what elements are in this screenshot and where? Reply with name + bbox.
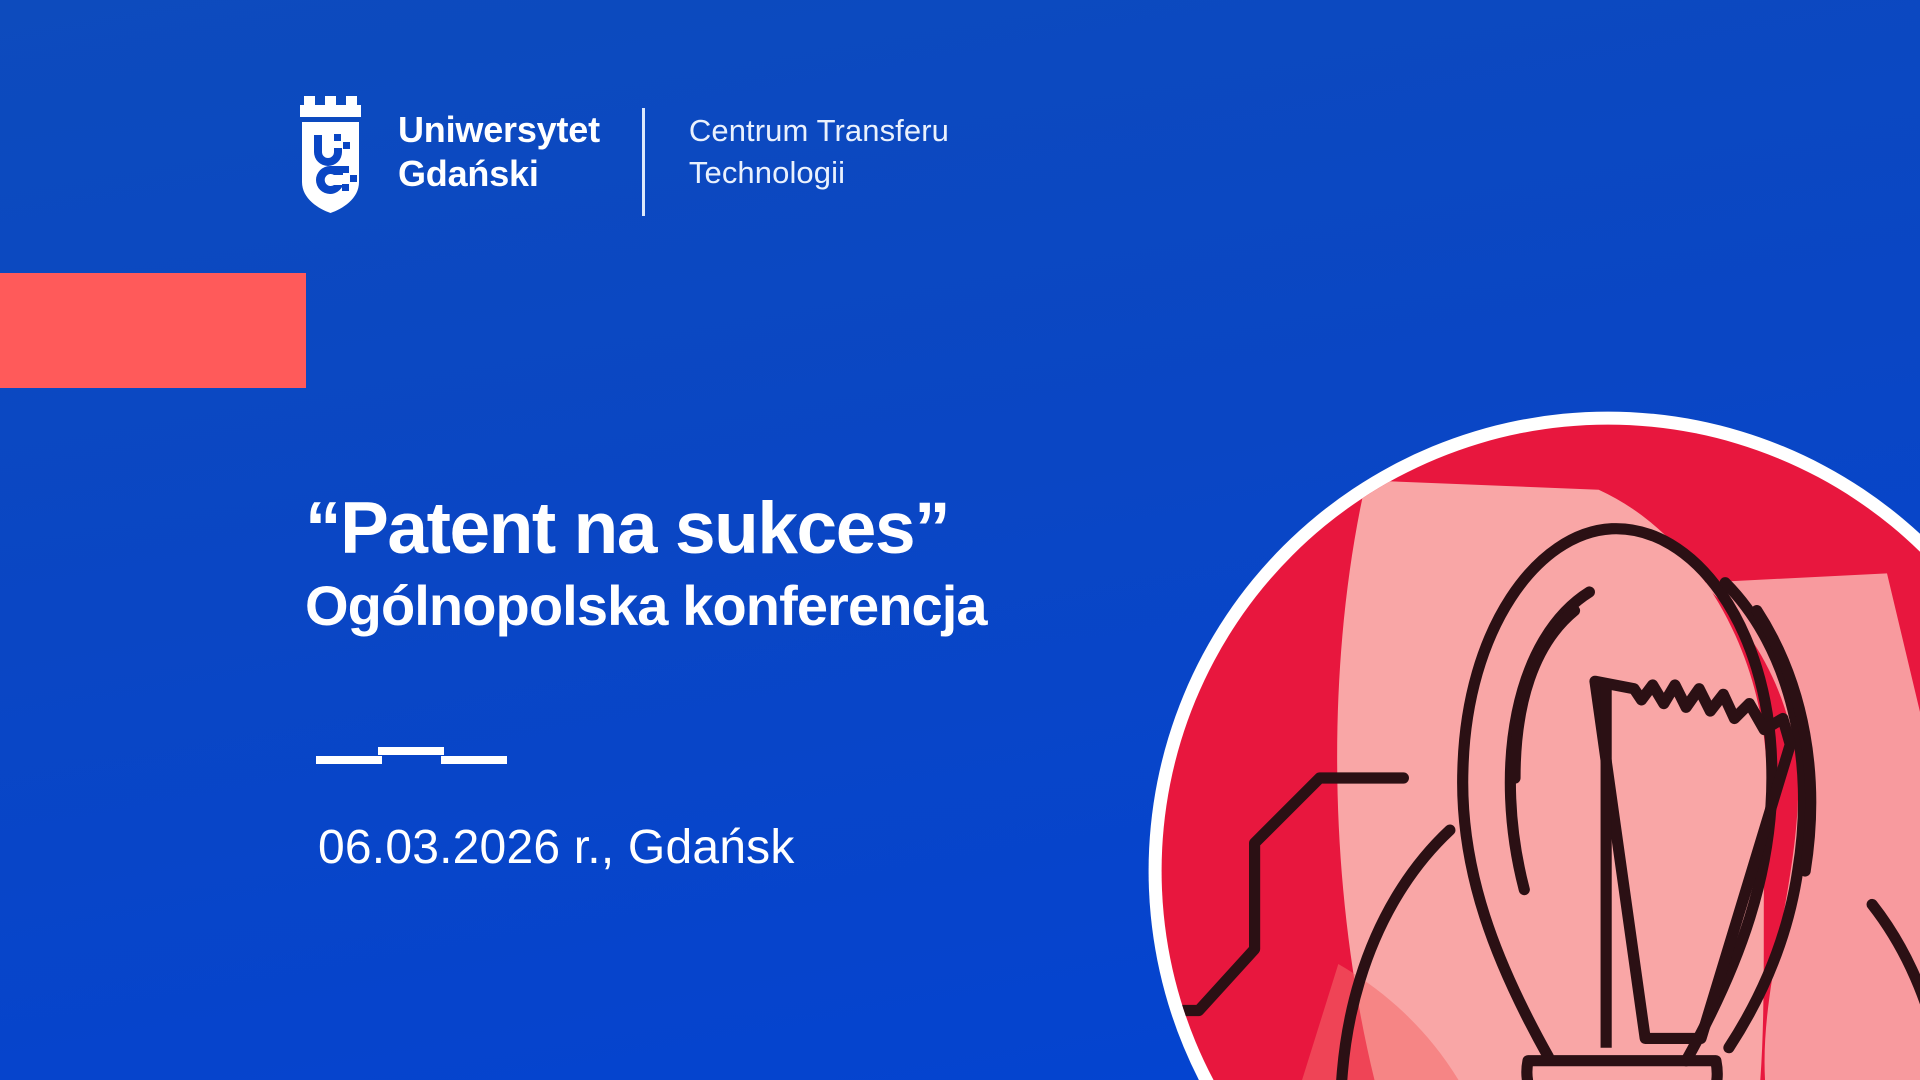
dash-divider — [316, 743, 516, 769]
event-date-location: 06.03.2026 r., Gdańsk — [318, 820, 795, 875]
divider-dash-mid — [378, 747, 444, 755]
unit-name: Centrum Transferu Technologii — [689, 92, 949, 193]
conference-poster: Uniwersytet Gdański Centrum Transferu Te… — [0, 0, 1920, 1080]
page-subtitle: Ogólnopolska konferencja — [305, 575, 1205, 638]
brand-lockup: Uniwersytet Gdański Centrum Transferu Te… — [300, 92, 949, 222]
headline-group: “Patent na sukces” Ogólnopolska konferen… — [305, 492, 1205, 638]
brand-divider-rule — [642, 108, 645, 216]
uniwersytet-gdanski-crest-icon — [300, 96, 372, 214]
lightbulb-circuit-illustration — [1143, 406, 1920, 1080]
university-name: Uniwersytet Gdański — [398, 92, 600, 196]
divider-dash-right — [441, 756, 507, 764]
page-title: “Patent na sukces” — [305, 492, 1205, 565]
accent-block — [0, 273, 306, 388]
divider-dash-left — [316, 756, 382, 764]
